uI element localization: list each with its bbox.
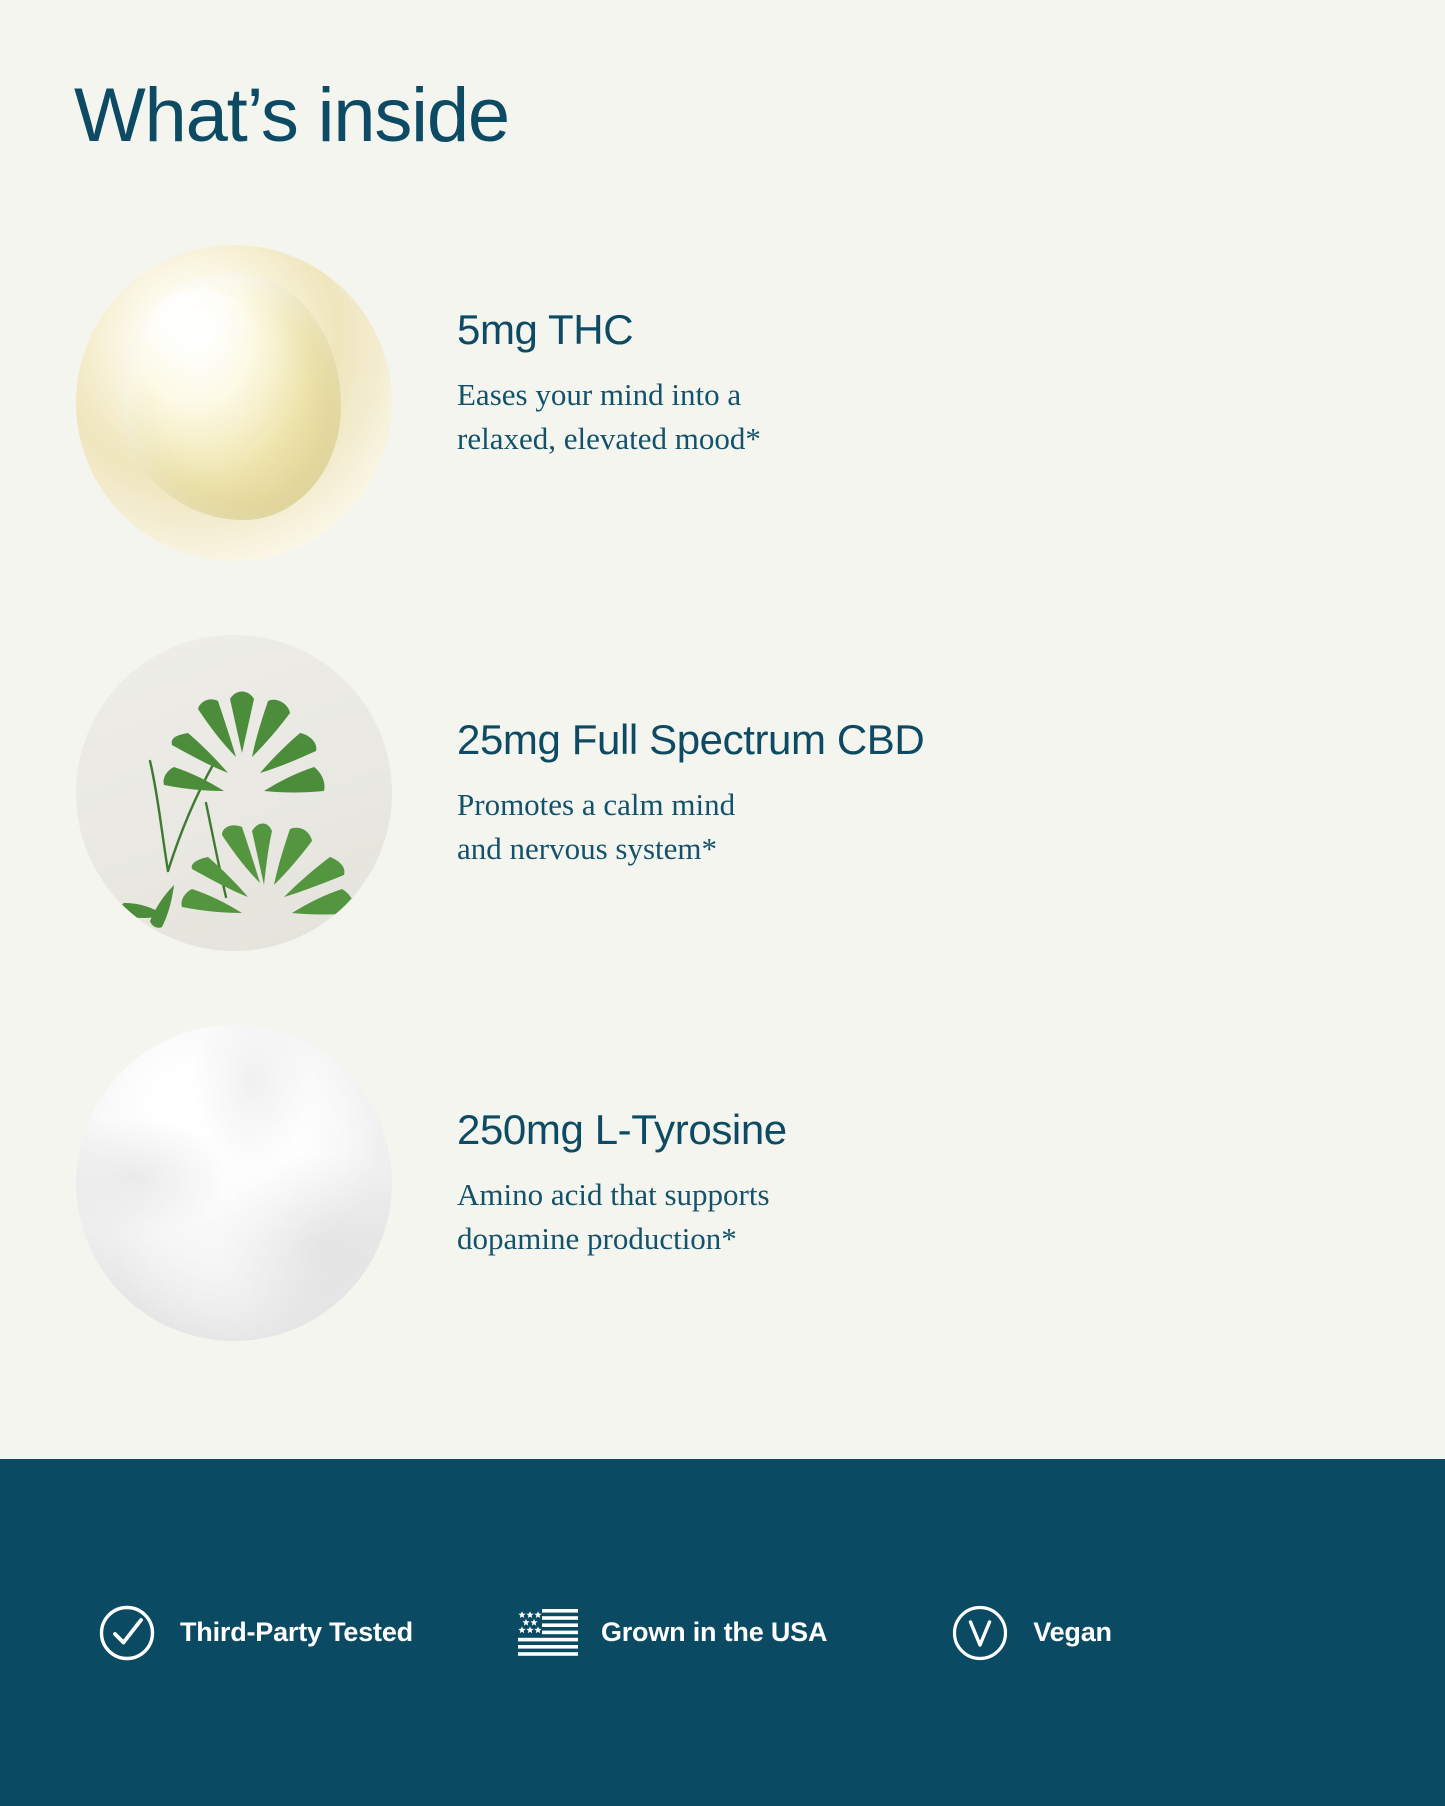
badge-label: Grown in the USA [601, 1617, 827, 1648]
ingredient-item: 250mg L-Tyrosine Amino acid that support… [0, 1025, 1445, 1355]
badge-grown-in-usa: Grown in the USA [517, 1602, 827, 1664]
ingredient-description-line: dopamine production* [457, 1217, 1157, 1261]
badge-list: Third-Party Tested [0, 1602, 1445, 1664]
ingredient-text-block: 25mg Full Spectrum CBD Promotes a calm m… [457, 717, 1157, 871]
badge-third-party-tested: Third-Party Tested [96, 1602, 413, 1664]
white-powder-photo [76, 1025, 392, 1341]
ingredient-title: 250mg L-Tyrosine [457, 1107, 1157, 1153]
circle-v-icon [949, 1602, 1011, 1664]
ingredient-text-block: 250mg L-Tyrosine Amino acid that support… [457, 1107, 1157, 1261]
badge-vegan: Vegan [949, 1602, 1112, 1664]
oil-droplet-photo [76, 245, 392, 561]
cannabis-leaves-photo [76, 635, 392, 951]
ingredient-title: 25mg Full Spectrum CBD [457, 717, 1157, 763]
ingredient-description-line: Eases your mind into a [457, 373, 1157, 417]
ingredient-description-line: and nervous system* [457, 827, 1157, 871]
usa-flag-icon [517, 1602, 579, 1664]
ingredient-description-line: relaxed, elevated mood* [457, 417, 1157, 461]
ingredient-description-line: Amino acid that supports [457, 1173, 1157, 1217]
ingredient-description: Promotes a calm mind and nervous system* [457, 783, 1157, 871]
ingredient-item: 5mg THC Eases your mind into a relaxed, … [0, 245, 1445, 575]
ingredient-text-block: 5mg THC Eases your mind into a relaxed, … [457, 307, 1157, 461]
ingredient-title: 5mg THC [457, 307, 1157, 353]
ingredient-description: Amino acid that supports dopamine produc… [457, 1173, 1157, 1261]
trust-badge-bar: Third-Party Tested [0, 1459, 1445, 1806]
whats-inside-section: What’s inside 5mg THC Eases your mind in… [0, 0, 1445, 1806]
ingredient-description: Eases your mind into a relaxed, elevated… [457, 373, 1157, 461]
circle-check-icon [96, 1602, 158, 1664]
badge-label: Third-Party Tested [180, 1617, 413, 1648]
badge-label: Vegan [1033, 1617, 1112, 1648]
ingredient-item: 25mg Full Spectrum CBD Promotes a calm m… [0, 635, 1445, 965]
page-title: What’s inside [74, 78, 509, 154]
ingredient-description-line: Promotes a calm mind [457, 783, 1157, 827]
